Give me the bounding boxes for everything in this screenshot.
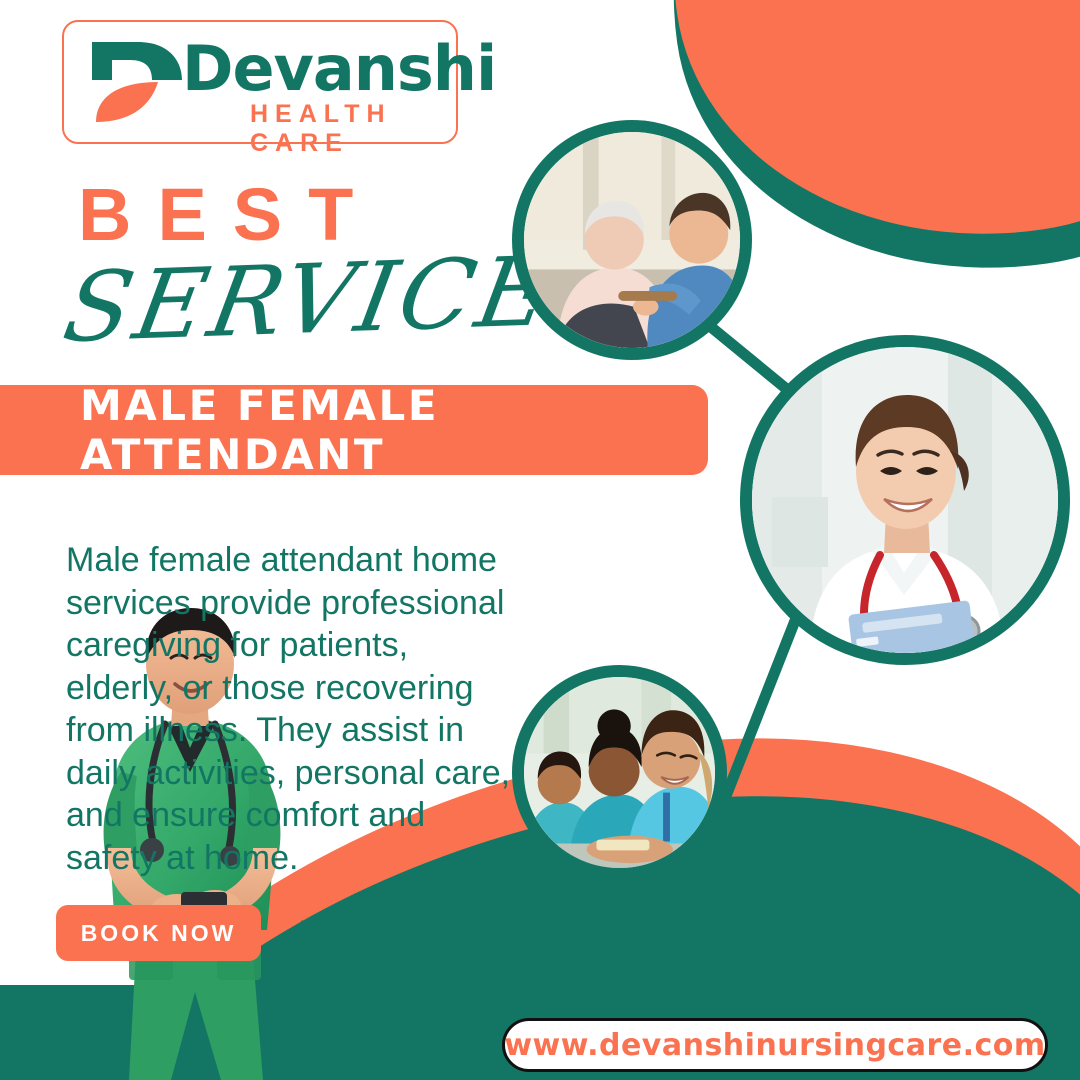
- website-pill[interactable]: www.devanshinursingcare.com: [502, 1018, 1048, 1072]
- photo-nurse-portrait: [740, 335, 1070, 665]
- photo-caregiver-elderly: [512, 120, 752, 360]
- poster-canvas: Devanshi HEALTH CARE BEST SERVICES MALE …: [0, 0, 1080, 1080]
- website-url: www.devanshinursingcare.com: [504, 1028, 1045, 1063]
- book-now-button[interactable]: BOOK NOW: [56, 905, 261, 961]
- contact-phone-number[interactable]: +91-7728007713: [285, 907, 710, 960]
- photo-nursing-students: [512, 665, 727, 880]
- service-description: Male female attendant home services prov…: [66, 539, 518, 879]
